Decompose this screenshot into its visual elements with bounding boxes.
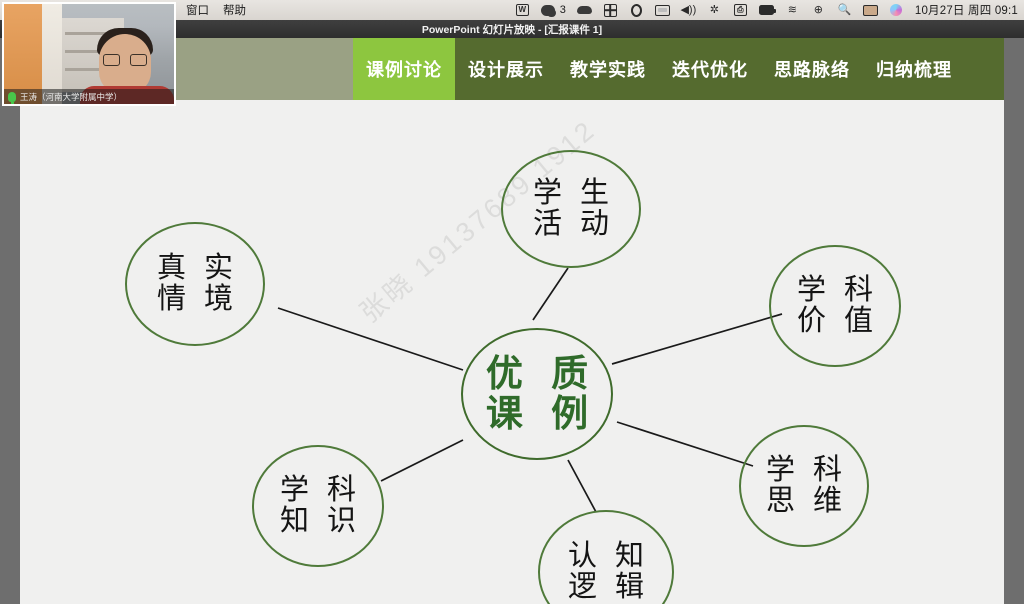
airplay-icon[interactable] — [863, 3, 878, 17]
ribbon-right-block — [965, 38, 1004, 100]
display-icon[interactable] — [655, 3, 670, 17]
tab-归纳梳理[interactable]: 归纳梳理 — [863, 38, 965, 100]
slide-tab-list: 课例讨论 设计展示 教学实践 迭代优化 思路脉络 归纳梳理 — [353, 38, 965, 100]
tab-设计展示[interactable]: 设计展示 — [455, 38, 557, 100]
node-学生活动[interactable]: 学 生 活 动 — [501, 150, 641, 268]
tab-迭代优化[interactable]: 迭代优化 — [659, 38, 761, 100]
menubar-app-menus: 窗口 帮助 — [186, 2, 246, 18]
node-center-line1: 优 质 — [477, 354, 597, 394]
node-学科价值[interactable]: 学 科 价 值 — [769, 245, 901, 367]
battery-icon[interactable] — [759, 3, 774, 17]
concept-map: 张晓 19137689 1912 优 质 课 例 — [20, 100, 1004, 604]
wifi-icon[interactable]: ≋ — [785, 3, 800, 17]
spotlight-search-icon[interactable]: 🔍 — [837, 3, 852, 17]
connector-center-to-upper-left — [278, 308, 463, 370]
node-bottom-line2: 逻 辑 — [563, 572, 649, 603]
participant-name: 王涛（河南大学附属中学） — [20, 91, 122, 103]
node-top-line1: 学 生 — [528, 178, 614, 209]
siri-icon[interactable] — [889, 3, 904, 17]
connector-center-to-lower-left — [381, 440, 463, 481]
connector-center-to-bottom — [568, 460, 596, 512]
connector-center-to-top — [533, 268, 568, 320]
node-top-line2: 活 动 — [528, 209, 614, 240]
node-bottom-line1: 认 知 — [563, 541, 649, 572]
participant-video-tile[interactable]: 王涛（河南大学附属中学） — [2, 2, 176, 106]
connector-center-to-lower-right — [617, 422, 753, 466]
slideshow-stage: 课例讨论 设计展示 教学实践 迭代优化 思路脉络 归纳梳理 张晓 1913768… — [0, 38, 1024, 604]
menu-item-window[interactable]: 窗口 — [186, 2, 209, 18]
node-upper-right-line1: 学 科 — [792, 275, 878, 306]
connector-center-to-upper-right — [612, 314, 782, 364]
participant-name-bar: 王涛（河南大学附属中学） — [4, 89, 176, 104]
slide-canvas: 课例讨论 设计展示 教学实践 迭代优化 思路脉络 归纳梳理 张晓 1913768… — [20, 38, 1004, 604]
microphone-icon[interactable] — [8, 92, 16, 102]
downloads-icon[interactable]: ⊕ — [811, 3, 826, 17]
node-lower-right-line1: 学 科 — [761, 455, 847, 486]
node-lower-left-line1: 学 科 — [275, 475, 361, 506]
volume-icon[interactable]: ◀)) — [681, 3, 696, 17]
node-学科知识[interactable]: 学 科 知 识 — [252, 445, 384, 567]
grid-window-icon[interactable] — [603, 3, 618, 17]
tab-课例讨论[interactable]: 课例讨论 — [353, 38, 455, 100]
wechat-icon[interactable] — [541, 3, 556, 17]
node-lower-right-line2: 思 维 — [761, 486, 847, 517]
node-upper-left-line2: 情 境 — [152, 284, 238, 315]
tab-思路脉络[interactable]: 思路脉络 — [761, 38, 863, 100]
node-upper-right-line2: 价 值 — [792, 306, 878, 337]
wps-writer-icon[interactable]: W — [515, 3, 530, 17]
tab-教学实践[interactable]: 教学实践 — [557, 38, 659, 100]
node-upper-left-line1: 真 实 — [152, 253, 238, 284]
node-center-优质课例[interactable]: 优 质 课 例 — [461, 328, 613, 460]
node-center-line2: 课 例 — [477, 394, 597, 434]
menubar-status-items: W 3 ◀)) ✲ ⎙ ≋ ⊕ 🔍 10月27日 周四 09:1 — [515, 2, 1024, 18]
glasses-icon — [103, 54, 147, 66]
window-title: PowerPoint 幻灯片放映 - [汇报课件 1] — [422, 22, 602, 37]
menu-item-help[interactable]: 帮助 — [223, 2, 246, 18]
node-lower-left-line2: 知 识 — [275, 506, 361, 537]
node-学科思维[interactable]: 学 科 思 维 — [739, 425, 869, 547]
node-真实情境[interactable]: 真 实 情 境 — [125, 222, 265, 346]
wechat-unread-count: 3 — [560, 4, 566, 16]
opera-icon[interactable] — [629, 3, 644, 17]
screenshot-icon[interactable]: ⎙ — [733, 3, 748, 17]
menubar-clock[interactable]: 10月27日 周四 09:1 — [915, 2, 1018, 18]
cloud-icon[interactable] — [577, 3, 592, 17]
bluetooth-icon[interactable]: ✲ — [707, 3, 722, 17]
